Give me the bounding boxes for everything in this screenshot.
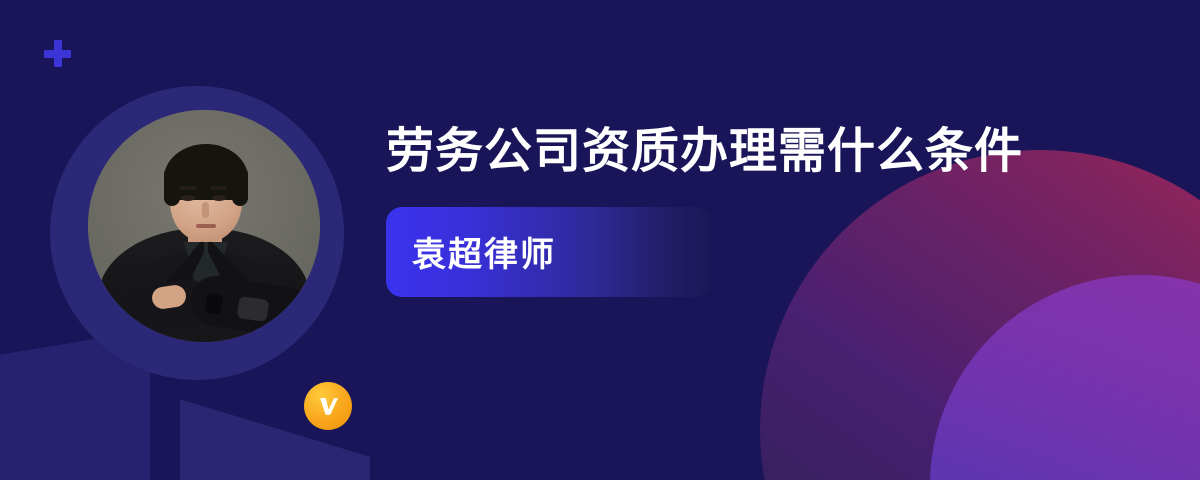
plus-icon-bar-vertical: [54, 40, 62, 67]
author-name-badge[interactable]: 袁超律师: [386, 207, 711, 297]
portrait-nose: [202, 202, 209, 218]
portrait-eye-right: [212, 195, 226, 201]
plus-icon-bar-horizontal: [44, 50, 71, 58]
portrait-watch: [204, 293, 223, 315]
violet-gradient-circle: [930, 275, 1200, 480]
portrait-eyebrow-left: [180, 186, 197, 190]
author-name-label: 袁超律师: [412, 227, 556, 276]
avatar[interactable]: [50, 86, 344, 380]
video-cover-card: 劳务公司资质办理需什么条件 袁超律师: [0, 0, 1200, 480]
page-title: 劳务公司资质办理需什么条件: [386, 120, 1066, 185]
cover-text-block: 劳务公司资质办理需什么条件 袁超律师: [386, 120, 1106, 297]
avatar-photo: [88, 110, 320, 342]
portrait-eye-left: [181, 195, 195, 201]
portrait-eyebrow-right: [210, 186, 227, 190]
verified-v-icon: [304, 382, 352, 430]
portrait-cuff: [237, 296, 270, 322]
plus-icon: [44, 40, 71, 67]
portrait-mouth: [196, 224, 216, 228]
portrait-hair-side-right: [232, 166, 248, 206]
portrait-hair-side-left: [164, 166, 180, 206]
